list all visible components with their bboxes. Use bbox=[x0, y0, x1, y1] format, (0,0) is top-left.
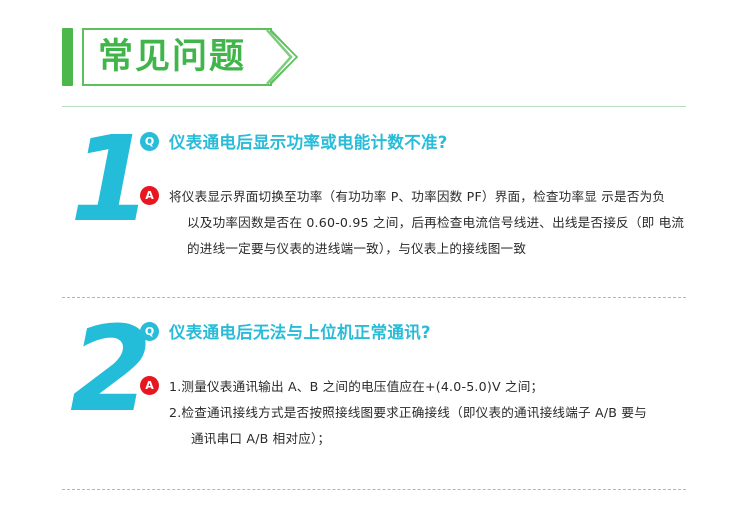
answer-lines-2: 1.测量仪表通讯输出 A、B 之间的电压值应在+(4.0-5.0)V 之间； 2… bbox=[169, 374, 647, 452]
faq-number-2: 2 bbox=[70, 318, 150, 422]
question-text-2: 仪表通电后无法与上位机正常通讯? bbox=[169, 319, 431, 343]
question-row-2: Q 仪表通电后无法与上位机正常通讯? bbox=[140, 318, 700, 344]
page-header: 常见问题 bbox=[62, 28, 272, 86]
page-title: 常见问题 bbox=[98, 40, 246, 75]
header-plate: 常见问题 bbox=[82, 28, 272, 86]
answer-line: 以及功率因数是否在 0.60-0.95 之间，后再检查电流信号线进、出线是否接反… bbox=[169, 210, 684, 236]
answer-block-1: A 将仪表显示界面切换至功率（有功功率 P、功率因数 PF）界面，检查功率显 示… bbox=[140, 184, 700, 262]
question-text-1: 仪表通电后显示功率或电能计数不准? bbox=[169, 129, 448, 153]
faq-body-1: Q 仪表通电后显示功率或电能计数不准? A 将仪表显示界面切换至功率（有功功率 … bbox=[140, 128, 700, 262]
answer-badge-icon: A bbox=[140, 376, 159, 395]
faq-page: 常见问题 1 Q 仪表通电后显示功率或电能计数不准? A 将仪表显示界面切换至功… bbox=[0, 0, 750, 524]
chevron-right-icon bbox=[265, 28, 295, 86]
answer-line: 2.检查通讯接线方式是否按照接线图要求正确接线（即仪表的通讯接线端子 A/B 要… bbox=[169, 400, 647, 426]
question-row-1: Q 仪表通电后显示功率或电能计数不准? bbox=[140, 128, 700, 154]
header-accent-bar bbox=[62, 28, 73, 86]
answer-line: 通讯串口 A/B 相对应）； bbox=[169, 426, 647, 452]
faq-body-2: Q 仪表通电后无法与上位机正常通讯? A 1.测量仪表通讯输出 A、B 之间的电… bbox=[140, 318, 700, 452]
answer-badge-icon: A bbox=[140, 186, 159, 205]
faq-divider-1 bbox=[62, 297, 686, 298]
answer-lines-1: 将仪表显示界面切换至功率（有功功率 P、功率因数 PF）界面，检查功率显 示是否… bbox=[169, 184, 684, 262]
question-badge-icon: Q bbox=[140, 132, 159, 151]
answer-line: 将仪表显示界面切换至功率（有功功率 P、功率因数 PF）界面，检查功率显 示是否… bbox=[169, 184, 684, 210]
faq-divider-2 bbox=[62, 489, 686, 490]
answer-line: 的进线一定要与仪表的进线端一致），与仪表上的接线图一致 bbox=[169, 236, 684, 262]
answer-block-2: A 1.测量仪表通讯输出 A、B 之间的电压值应在+(4.0-5.0)V 之间；… bbox=[140, 374, 700, 452]
question-badge-icon: Q bbox=[140, 322, 159, 341]
faq-number-1: 1 bbox=[70, 128, 150, 232]
header-divider bbox=[62, 106, 686, 107]
answer-line: 1.测量仪表通讯输出 A、B 之间的电压值应在+(4.0-5.0)V 之间； bbox=[169, 374, 647, 400]
